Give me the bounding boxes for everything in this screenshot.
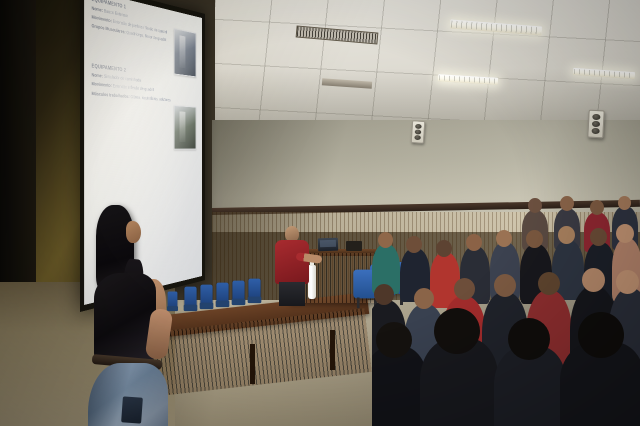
audience-member-head — [528, 198, 542, 213]
slide-field-label: Movimento: — [92, 15, 112, 24]
left-wall-shadow — [0, 0, 36, 300]
slide-field-label: Músculos trabalhados: — [92, 91, 130, 99]
audience-member-head — [590, 228, 607, 246]
slide-field-label: Nome: — [92, 6, 103, 13]
audience-member-head — [378, 232, 393, 248]
audience-member-head — [578, 312, 624, 358]
jeans-pocket — [121, 396, 143, 423]
audience-member-head — [526, 230, 543, 248]
auditorium-chair — [200, 285, 212, 304]
auditorium-chair — [184, 287, 196, 306]
slide-field-label: Movimento: — [92, 82, 112, 89]
audience-member-head — [374, 284, 394, 305]
slide-image-thumbnail — [174, 105, 196, 149]
auditorium-chair — [248, 279, 260, 298]
audience-member-head — [494, 274, 516, 297]
presenter — [272, 226, 312, 304]
audience-member-head — [590, 200, 604, 215]
person-face — [126, 221, 141, 243]
audience-member-head — [454, 278, 475, 300]
audience-member-head — [376, 322, 412, 358]
audience-member-head — [466, 234, 482, 251]
audience-member-head — [582, 268, 605, 292]
presenter-shirt — [275, 240, 309, 284]
wall-speaker-right — [587, 110, 604, 139]
person-jeans — [88, 363, 168, 426]
slide-field-label: Nome: — [92, 73, 103, 79]
slide-field-value: Simulador de caminhada — [104, 74, 141, 83]
wall-speaker-left — [411, 120, 425, 143]
auditorium-chair — [216, 283, 228, 302]
foreground-standing-person — [70, 205, 180, 426]
slide-field-value: Glúteo, isquiotibiais, adutores — [130, 94, 170, 102]
audience-member-head — [508, 318, 550, 360]
auditorium-chair — [232, 281, 244, 300]
audience-member-head — [618, 196, 631, 210]
equipment-box — [346, 241, 362, 251]
presenter-legs — [279, 282, 305, 306]
audience-member-head — [406, 236, 422, 253]
audience-member-head — [560, 196, 574, 211]
audience-member-head — [538, 272, 560, 295]
laptop — [318, 238, 338, 252]
slide-field-value: Extensão e flexão de quadril — [113, 84, 154, 93]
slide-image-thumbnail — [174, 28, 196, 77]
table-leg — [330, 330, 335, 370]
table-leg — [250, 344, 255, 384]
audience-member-head — [616, 224, 634, 243]
audience-member-head — [434, 308, 480, 354]
audience-member-head — [496, 230, 512, 247]
audience-member-head — [436, 240, 452, 257]
photo-scene: EQUIPAMENTO 1 Nome: Banco Extensor Movim… — [0, 0, 640, 426]
audience — [372, 196, 640, 426]
audience-member-head — [616, 270, 639, 294]
audience-member-head — [414, 288, 434, 309]
audience-member-head — [558, 226, 575, 244]
